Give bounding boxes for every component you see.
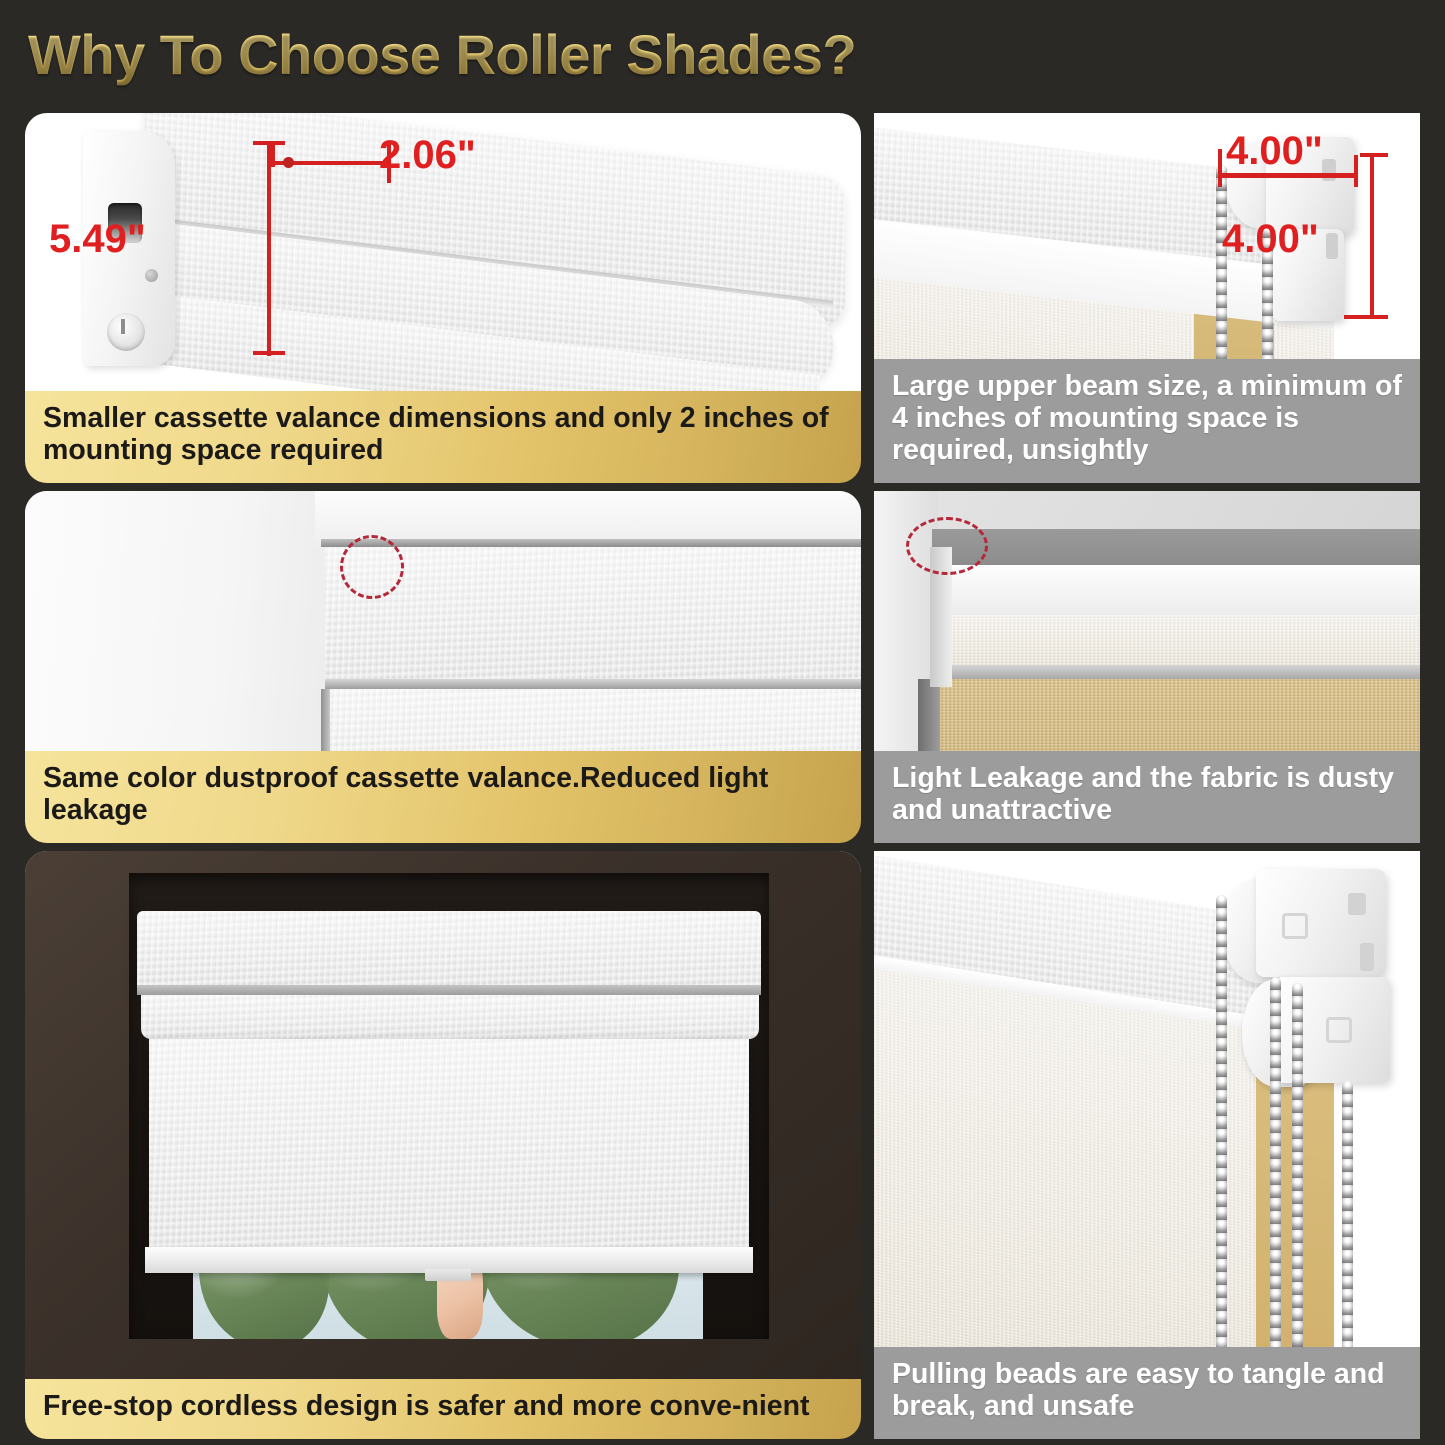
panel-grid: 2.06" 5.49" Smaller cassette valance dim…: [0, 108, 1445, 1445]
cassette-valance-top: [137, 911, 761, 989]
bracket-6-slot-1: [1348, 893, 1366, 915]
panel-3-caption: Same color dustproof cassette valance.Re…: [25, 751, 861, 843]
shade-fabric-tan: [936, 679, 1420, 751]
panel-1-caption: Smaller cassette valance dimensions and …: [25, 391, 861, 483]
beam-height-tick-top: [1360, 153, 1388, 157]
panel-light-leakage-large-gap: Large gap Light Leakage and the fabric i…: [874, 491, 1420, 843]
panel-6-caption: Pulling beads are easy to tangle and bre…: [874, 1347, 1420, 1439]
panel-pulling-beads-unsafe: Pulling beads are easy to tangle and bre…: [874, 851, 1420, 1439]
bead-chain-4: [1342, 1081, 1353, 1347]
bead-chain-2: [1270, 977, 1281, 1347]
shade-rail-edge: [932, 665, 1420, 679]
bracket-6-emblem-1: [1282, 913, 1308, 939]
width-dimension-label: 2.06": [379, 133, 476, 178]
gap-highlight-ellipse: [906, 517, 988, 575]
panel-free-stop-cordless: Free-stop cordless design is safer and m…: [25, 851, 861, 1439]
infographic-root: Why To Choose Roller Shades? 2.0: [0, 0, 1445, 1445]
width-anchor-dot: [283, 157, 294, 168]
panel-5-caption: Free-stop cordless design is safer and m…: [25, 1379, 861, 1439]
bracket-6-slot-2: [1360, 943, 1374, 971]
beam-height-label: 4.00": [1222, 217, 1319, 262]
shade-fabric-cream-band: [932, 615, 1420, 669]
panel-2-photo: 4.00" 4.00": [874, 113, 1420, 359]
panel-6-photo: [874, 851, 1420, 1347]
roller-tube-highlight: [932, 565, 1420, 619]
page-title-text: Why To Choose Roller Shades?: [28, 22, 856, 87]
panel-2-caption: Large upper beam size, a minimum of 4 in…: [874, 359, 1420, 483]
page-title: Why To Choose Roller Shades?: [0, 0, 1445, 108]
beam-width-tick-left: [1218, 149, 1222, 187]
panel-large-upper-beam: 4.00" 4.00" Large upper beam size, a min…: [874, 113, 1420, 483]
end-cap-screw: [145, 269, 158, 282]
bracket-slot-2: [1326, 233, 1338, 259]
bracket-6-emblem-2: [1326, 1017, 1352, 1043]
height-dimension-label: 5.49": [49, 217, 146, 262]
panel-4-caption: Light Leakage and the fabric is dusty an…: [874, 751, 1420, 843]
gap-highlight-circle: [340, 535, 404, 599]
panel-cassette-valance-dimensions: 2.06" 5.49" Smaller cassette valance dim…: [25, 113, 861, 483]
panel-1-photo: 2.06" 5.49": [25, 113, 861, 391]
valance-lower-lip: [141, 995, 759, 1039]
beam-width-tick-right: [1354, 155, 1358, 187]
beam-height-tick-bottom: [1344, 315, 1388, 319]
shade-pull-tab: [425, 1269, 471, 1281]
shade-fabric-main: [149, 1039, 749, 1251]
bead-chain-1: [1216, 895, 1227, 1347]
bead-chain-left: [1216, 165, 1227, 359]
panel-5-photo: [25, 851, 861, 1379]
beam-width-label: 4.00": [1226, 129, 1323, 174]
beam-height-line: [1370, 153, 1374, 319]
frame-inner-edge: [321, 539, 861, 547]
shade-side-channel: [321, 689, 330, 751]
window-frame-left: [25, 491, 355, 751]
light-gap-shadow: [918, 679, 940, 751]
end-cap-knob: [107, 313, 145, 351]
height-tick-bottom: [253, 351, 285, 355]
height-dim-line: [267, 141, 271, 356]
valance-groove: [137, 985, 761, 995]
bead-chain-3: [1292, 983, 1303, 1347]
valance-bottom-edge: [325, 679, 861, 689]
panel-4-photo: Large gap: [874, 491, 1420, 751]
panel-3-photo: smaller gap: [25, 491, 861, 751]
height-tick-top: [253, 141, 285, 145]
shade-fabric-body: [325, 689, 861, 751]
cassette-valance-front: [325, 547, 861, 687]
panel-dustproof-cassette-small-gap: smaller gap Same color dustproof cassett…: [25, 491, 861, 843]
